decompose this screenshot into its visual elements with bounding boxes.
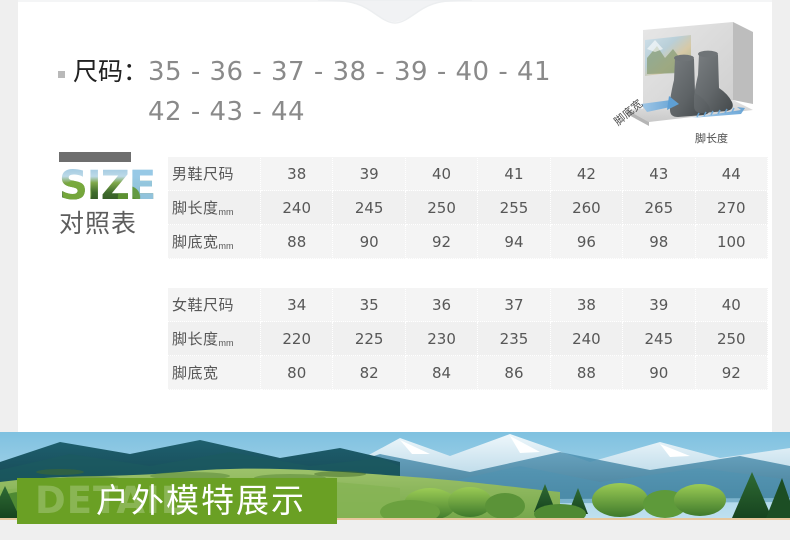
table-cell: 39 (333, 157, 405, 191)
table-cell: 225 (333, 322, 405, 356)
table-cell: 42 (550, 157, 622, 191)
size-values-line-1: 35 - 36 - 37 - 38 - 39 - 40 - 41 (148, 52, 538, 92)
table-cell: 245 (333, 191, 405, 225)
table-cell: 260 (550, 191, 622, 225)
row-header-label: 脚长度 (172, 200, 219, 217)
table-cell: 80 (261, 356, 333, 390)
table-cell: 84 (405, 356, 477, 390)
square-bullet-icon (58, 71, 65, 78)
table-row: 脚底宽 80 82 84 86 88 90 92 (168, 356, 768, 390)
table-cell: 220 (261, 322, 333, 356)
table-cell: 92 (695, 356, 767, 390)
row-header-cell: 男鞋尺码 (168, 157, 261, 191)
table-cell: 35 (333, 288, 405, 322)
table-row: 脚底宽mm 88 90 92 94 96 98 100 (168, 225, 768, 259)
table-cell: 90 (333, 225, 405, 259)
row-header-cell: 女鞋尺码 (168, 288, 261, 322)
table-row: 脚长度mm 240 245 250 255 260 265 270 (168, 191, 768, 225)
table-cell: 39 (623, 288, 695, 322)
womens-size-table: 女鞋尺码 34 35 36 37 38 39 40 脚长度mm 220 225 … (167, 287, 768, 390)
product-detail-panel: 尺码： 35 - 36 - 37 - 38 - 39 - 40 - 41 42 … (18, 0, 772, 432)
size-chart-logo: SIZE 对照表 (59, 152, 159, 240)
table-cell: 92 (405, 225, 477, 259)
table-cell: 100 (695, 225, 767, 259)
table-cell: 240 (261, 191, 333, 225)
size-values-line-2: 42 - 43 - 44 (148, 92, 538, 132)
row-header-cell: 脚底宽mm (168, 225, 261, 259)
table-cell: 90 (623, 356, 695, 390)
boots-measurement-diagram-icon: 脚底宽 脚长度 (613, 18, 773, 148)
row-header-label: 脚长度 (172, 331, 219, 348)
table-cell: 88 (550, 356, 622, 390)
mens-size-table: 男鞋尺码 38 39 40 41 42 43 44 脚长度mm 240 245 … (167, 156, 768, 259)
logo-bar-decoration (59, 152, 131, 162)
table-cell: 40 (405, 157, 477, 191)
boot-label-foot-length: 脚长度 (695, 131, 728, 145)
size-values-list: 35 - 36 - 37 - 38 - 39 - 40 - 41 42 - 43… (148, 52, 538, 132)
table-cell: 255 (478, 191, 550, 225)
table-cell: 38 (550, 288, 622, 322)
table-cell: 240 (550, 322, 622, 356)
table-cell: 36 (405, 288, 477, 322)
table-cell: 235 (478, 322, 550, 356)
row-header-cell: 脚底宽 (168, 356, 261, 390)
table-cell: 265 (623, 191, 695, 225)
table-cell: 88 (261, 225, 333, 259)
table-cell: 43 (623, 157, 695, 191)
row-header-label: 脚底宽 (172, 365, 219, 382)
table-row: 女鞋尺码 34 35 36 37 38 39 40 (168, 288, 768, 322)
table-row: 脚长度mm 220 225 230 235 240 245 250 (168, 322, 768, 356)
table-cell: 41 (478, 157, 550, 191)
table-cell: 245 (623, 322, 695, 356)
table-cell: 38 (261, 157, 333, 191)
section-title-label: 户外模特展示 (96, 479, 306, 523)
table-cell: 40 (695, 288, 767, 322)
row-header-cell: 脚长度mm (168, 191, 261, 225)
table-cell: 82 (333, 356, 405, 390)
table-cell: 250 (695, 322, 767, 356)
table-cell: 270 (695, 191, 767, 225)
table-cell: 86 (478, 356, 550, 390)
row-header-label: 女鞋尺码 (172, 297, 234, 314)
table-cell: 94 (478, 225, 550, 259)
size-heading-label: 尺码： (73, 52, 148, 92)
row-header-unit: mm (219, 338, 234, 348)
row-header-cell: 脚长度mm (168, 322, 261, 356)
row-header-unit: mm (219, 207, 234, 217)
table-cell: 34 (261, 288, 333, 322)
table-row: 男鞋尺码 38 39 40 41 42 43 44 (168, 157, 768, 191)
row-header-label: 脚底宽 (172, 234, 219, 251)
table-cell: 44 (695, 157, 767, 191)
size-logo-word: SIZE (59, 166, 159, 206)
table-cell: 98 (623, 225, 695, 259)
row-header-label: 男鞋尺码 (172, 166, 234, 183)
table-cell: 37 (478, 288, 550, 322)
table-cell: 96 (550, 225, 622, 259)
table-cell: 230 (405, 322, 477, 356)
size-heading-row: 尺码： 35 - 36 - 37 - 38 - 39 - 40 - 41 42 … (58, 52, 658, 132)
table-cell: 250 (405, 191, 477, 225)
row-header-unit: mm (219, 241, 234, 251)
size-logo-subtitle: 对照表 (59, 208, 159, 240)
